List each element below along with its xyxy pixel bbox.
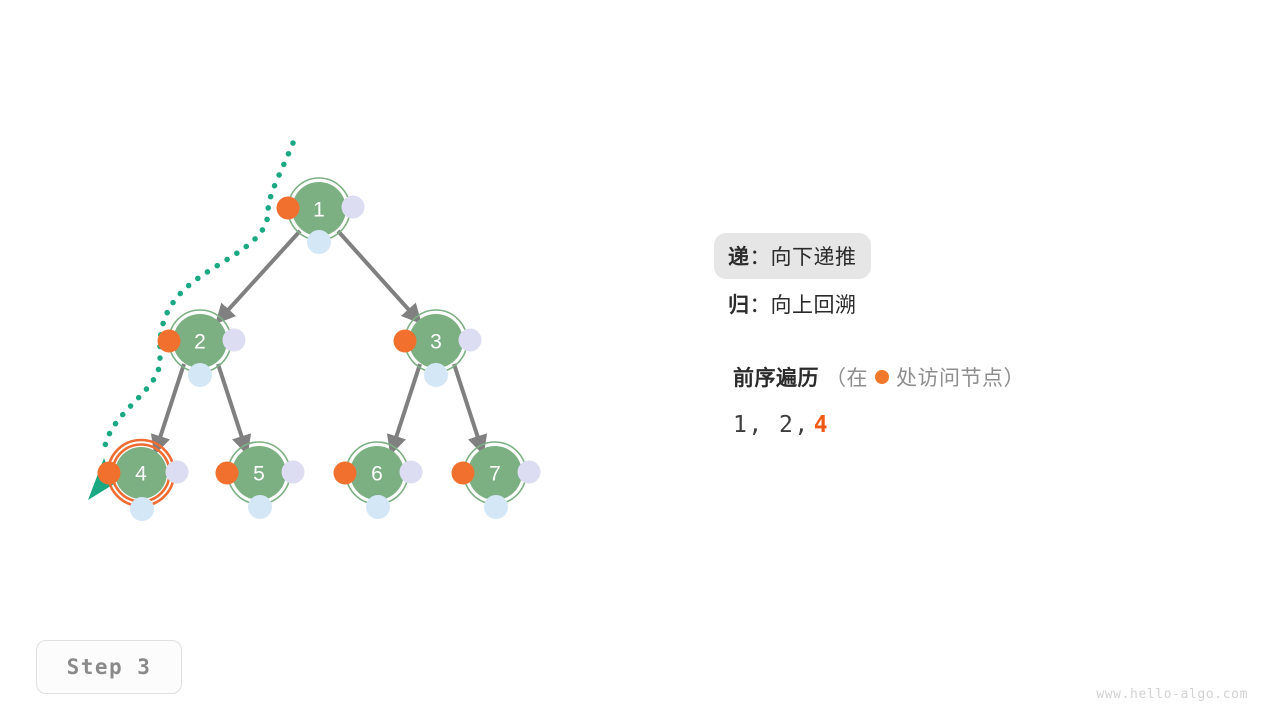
node-6-right-dot	[400, 461, 423, 484]
legend-pill-recurse: 递：向下递推	[714, 233, 871, 279]
tree-node-3[interactable]: 3	[394, 310, 482, 387]
traversal-panel: 前序遍历 （在 处访问节点） 1, 2, 4	[733, 362, 1253, 438]
node-5-visit-dot	[216, 462, 239, 485]
traversal-sequence: 1, 2, 4	[733, 412, 1253, 438]
node-2-visit-dot	[158, 330, 181, 353]
node-2-right-dot	[223, 329, 246, 352]
node-1-label: 1	[313, 199, 325, 222]
node-1-bottom-dot	[307, 230, 331, 254]
legend-plain-return: 归：向上回溯	[714, 281, 871, 327]
legend-return-separator: ：	[750, 289, 771, 319]
node-6-label: 6	[371, 463, 383, 486]
node-6-bottom-dot	[366, 495, 390, 519]
node-7-right-dot	[518, 461, 541, 484]
legend-row-recurse: 递：向下递推	[728, 232, 1248, 280]
node-4-label: 4	[135, 463, 147, 486]
legend-recurse-value: 向下递推	[771, 241, 857, 271]
traversal-title-row: 前序遍历 （在 处访问节点）	[733, 362, 1253, 392]
node-3-visit-dot	[394, 330, 417, 353]
step-badge: Step 3	[36, 640, 182, 694]
binary-tree-diagram: 1 2 3	[0, 0, 720, 620]
node-7-visit-dot	[452, 462, 475, 485]
tree-node-5[interactable]: 5	[216, 442, 305, 519]
edge-2-4	[156, 364, 184, 450]
watermark: www.hello-algo.com	[1096, 687, 1248, 702]
node-5-right-dot	[282, 461, 305, 484]
traversal-note-suffix: 处访问节点）	[896, 362, 1025, 392]
node-5-label: 5	[253, 463, 265, 486]
edge-2-5	[218, 364, 246, 450]
edge-3-7	[454, 364, 482, 450]
node-4-visit-dot	[98, 462, 121, 485]
node-5-bottom-dot	[248, 495, 272, 519]
tree-node-4[interactable]: 4	[98, 440, 189, 521]
node-3-bottom-dot	[424, 363, 448, 387]
node-1-visit-dot	[277, 197, 300, 220]
edge-1-3	[338, 231, 418, 320]
traversal-note: （在 处访问节点）	[825, 362, 1025, 392]
legend-return-value: 向上回溯	[771, 289, 857, 319]
node-1-right-dot	[342, 196, 365, 219]
tree-nodes: 1 2 3	[98, 178, 541, 521]
node-4-bottom-dot	[130, 497, 154, 521]
node-6-visit-dot	[334, 462, 357, 485]
legend-recurse-separator: ：	[750, 241, 771, 271]
traversal-note-prefix: （在	[825, 362, 868, 392]
sequence-visited: 1, 2,	[733, 412, 810, 438]
legend-recurse-keyword: 递	[728, 241, 750, 271]
edge-3-6	[392, 364, 420, 450]
edge-1-2	[219, 231, 300, 320]
node-4-right-dot	[166, 461, 189, 484]
node-7-bottom-dot	[484, 495, 508, 519]
node-3-label: 3	[430, 331, 442, 354]
tree-node-7[interactable]: 7	[452, 442, 541, 519]
node-2-bottom-dot	[188, 363, 212, 387]
legend-panel: 递：向下递推 归：向上回溯	[728, 232, 1248, 328]
sequence-current: 4	[814, 412, 829, 438]
legend-row-return: 归：向上回溯	[728, 280, 1248, 328]
node-7-label: 7	[489, 463, 501, 486]
traversal-title: 前序遍历	[733, 362, 819, 392]
tree-node-6[interactable]: 6	[334, 442, 423, 519]
node-3-right-dot	[459, 329, 482, 352]
diagram-canvas: 1 2 3	[0, 0, 1280, 720]
tree-node-2[interactable]: 2	[158, 310, 246, 387]
visit-marker-icon	[875, 370, 889, 384]
legend-return-keyword: 归	[728, 289, 750, 319]
node-2-label: 2	[194, 331, 206, 354]
